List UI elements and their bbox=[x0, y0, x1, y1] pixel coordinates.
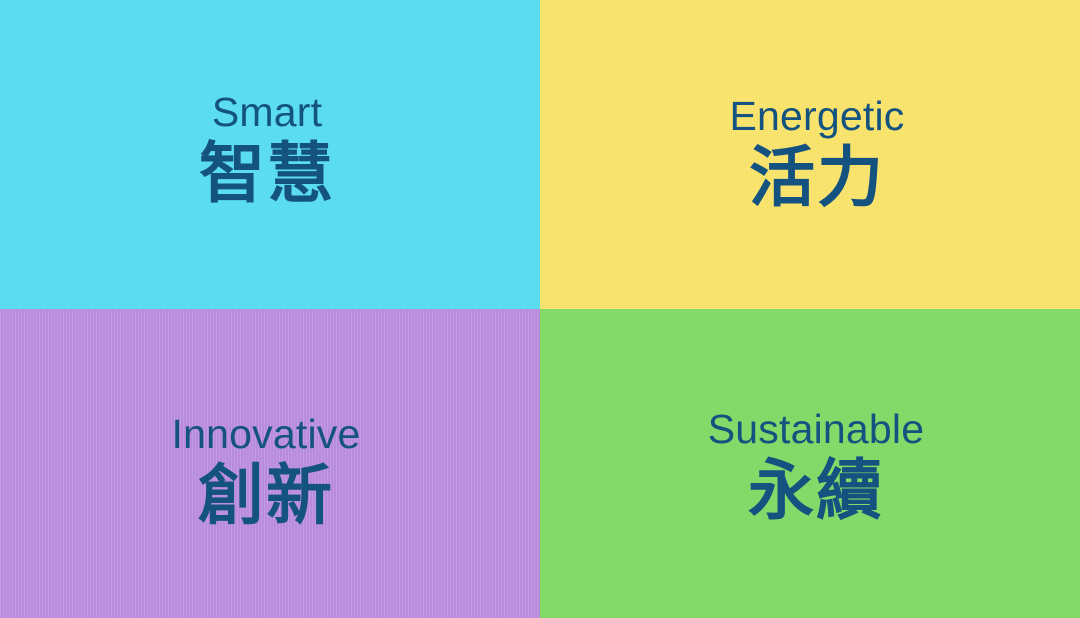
text-block-energetic: Energetic 活力 bbox=[729, 96, 904, 211]
word-chinese-energetic: 活力 bbox=[749, 145, 885, 211]
text-block-sustainable: Sustainable 永續 bbox=[708, 409, 924, 524]
word-english-energetic: Energetic bbox=[729, 96, 904, 137]
word-english-sustainable: Sustainable bbox=[708, 409, 924, 450]
word-chinese-innovative: 創新 bbox=[198, 463, 334, 529]
quadrant-innovative[interactable]: Innovative 創新 bbox=[0, 309, 540, 618]
brand-values-board: Smart 智慧 Energetic 活力 Innovative 創新 Sust… bbox=[0, 0, 1080, 618]
quadrant-sustainable[interactable]: Sustainable 永續 bbox=[540, 309, 1080, 618]
quadrant-energetic[interactable]: Energetic 活力 bbox=[540, 0, 1080, 309]
word-english-smart: Smart bbox=[212, 92, 322, 133]
quadrant-smart[interactable]: Smart 智慧 bbox=[0, 0, 540, 309]
word-chinese-smart: 智慧 bbox=[199, 141, 335, 207]
word-english-innovative: Innovative bbox=[172, 414, 361, 455]
word-chinese-sustainable: 永續 bbox=[748, 458, 884, 524]
text-block-innovative: Innovative 創新 bbox=[172, 414, 361, 529]
text-block-smart: Smart 智慧 bbox=[199, 92, 335, 207]
